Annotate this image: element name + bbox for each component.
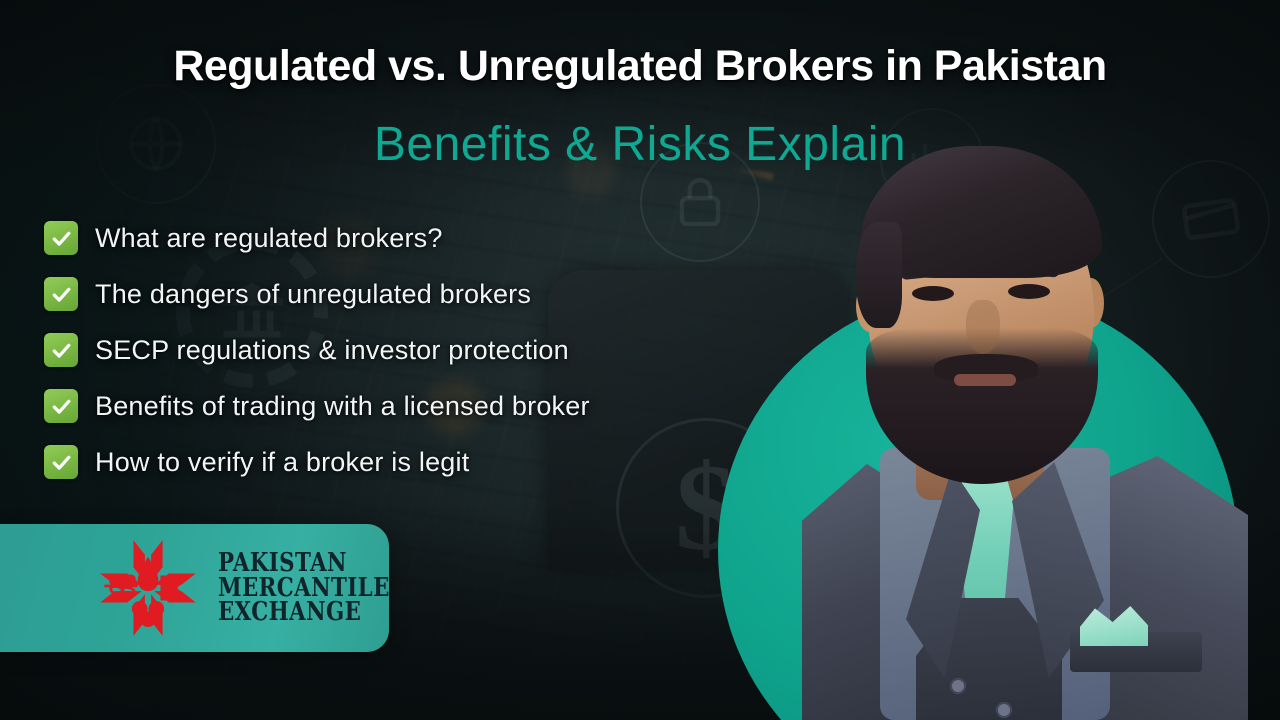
pmex-line-3: Exchange: [218, 600, 390, 625]
list-item-label: What are regulated brokers?: [95, 223, 443, 254]
list-item-label: The dangers of unregulated brokers: [95, 279, 531, 310]
list-item: SECP regulations & investor protection: [44, 327, 590, 373]
pmex-logo-wordmark: Pakistan Mercantile Exchange: [218, 551, 427, 626]
list-item: The dangers of unregulated brokers: [44, 271, 590, 317]
benefits-list: What are regulated brokers? The dangers …: [44, 215, 590, 485]
presenter-eye-right: [1008, 284, 1050, 299]
page-title: Regulated vs. Unregulated Brokers in Pak…: [0, 42, 1280, 91]
pmex-logo-badge: Pakistan Mercantile Exchange: [0, 524, 389, 652]
green-check-icon: [44, 277, 78, 311]
list-item: What are regulated brokers?: [44, 215, 590, 261]
list-item-label: Benefits of trading with a licensed brok…: [95, 391, 590, 422]
presenter-eye-left: [912, 286, 954, 301]
list-item: Benefits of trading with a licensed brok…: [44, 383, 590, 429]
green-check-icon: [44, 445, 78, 479]
presenter-sideburn: [856, 222, 902, 328]
list-item-label: How to verify if a broker is legit: [95, 447, 469, 478]
pmex-star-emblem-icon: [96, 535, 200, 641]
green-check-icon: [44, 389, 78, 423]
presenter-photo: [740, 112, 1260, 720]
list-item: How to verify if a broker is legit: [44, 439, 590, 485]
thumbnail-canvas: $ Regulat: [0, 0, 1280, 720]
presenter-nose: [966, 300, 1000, 354]
presenter-vest-button: [950, 678, 966, 694]
page-subtitle: Benefits & Risks Explain: [0, 117, 1280, 172]
list-item-label: SECP regulations & investor protection: [95, 335, 569, 366]
green-check-icon: [44, 221, 78, 255]
presenter-lips: [954, 374, 1016, 386]
presenter-vest-button: [996, 702, 1012, 718]
green-check-icon: [44, 333, 78, 367]
